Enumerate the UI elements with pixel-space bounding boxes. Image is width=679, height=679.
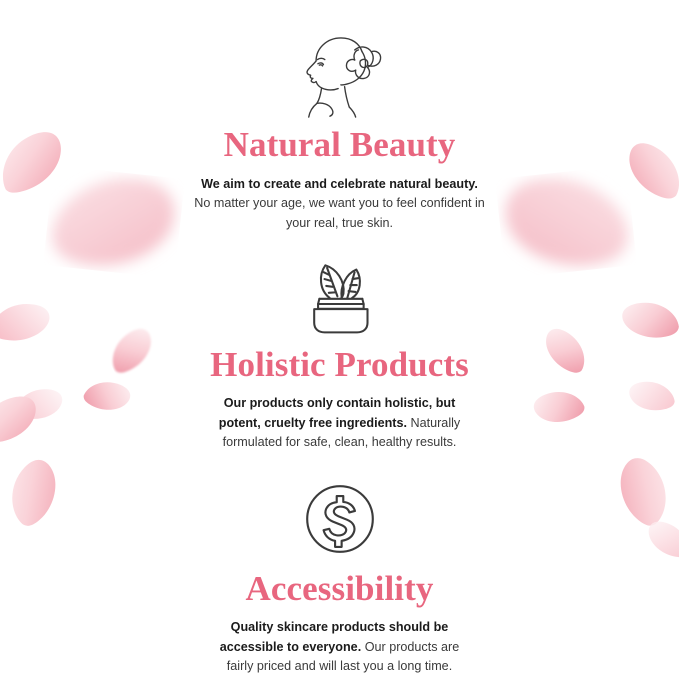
- cream-jar-leaves-icon: [297, 261, 383, 335]
- value-section-holistic-products: Holistic Products Our products only cont…: [0, 261, 679, 452]
- woman-profile-flower-icon: [294, 26, 386, 118]
- values-content: Natural Beauty We aim to create and cele…: [0, 0, 679, 679]
- section-heading: Natural Beauty: [224, 127, 456, 164]
- dollar-circle-icon: [299, 478, 381, 560]
- section-body: Quality skincare products should be acce…: [209, 618, 471, 677]
- section-body-bold: We aim to create and celebrate natural b…: [201, 177, 478, 191]
- section-heading: Accessibility: [246, 571, 434, 608]
- brand-values-graphic: Natural Beauty We aim to create and cele…: [0, 0, 679, 679]
- section-body: Our products only contain holistic, but …: [206, 394, 474, 453]
- value-section-natural-beauty: Natural Beauty We aim to create and cele…: [0, 26, 679, 233]
- section-body-regular: No matter your age, we want you to feel …: [194, 196, 485, 230]
- section-body: We aim to create and celebrate natural b…: [194, 175, 486, 234]
- value-section-accessibility: Accessibility Quality skincare products …: [0, 478, 679, 677]
- section-heading: Holistic Products: [210, 347, 469, 384]
